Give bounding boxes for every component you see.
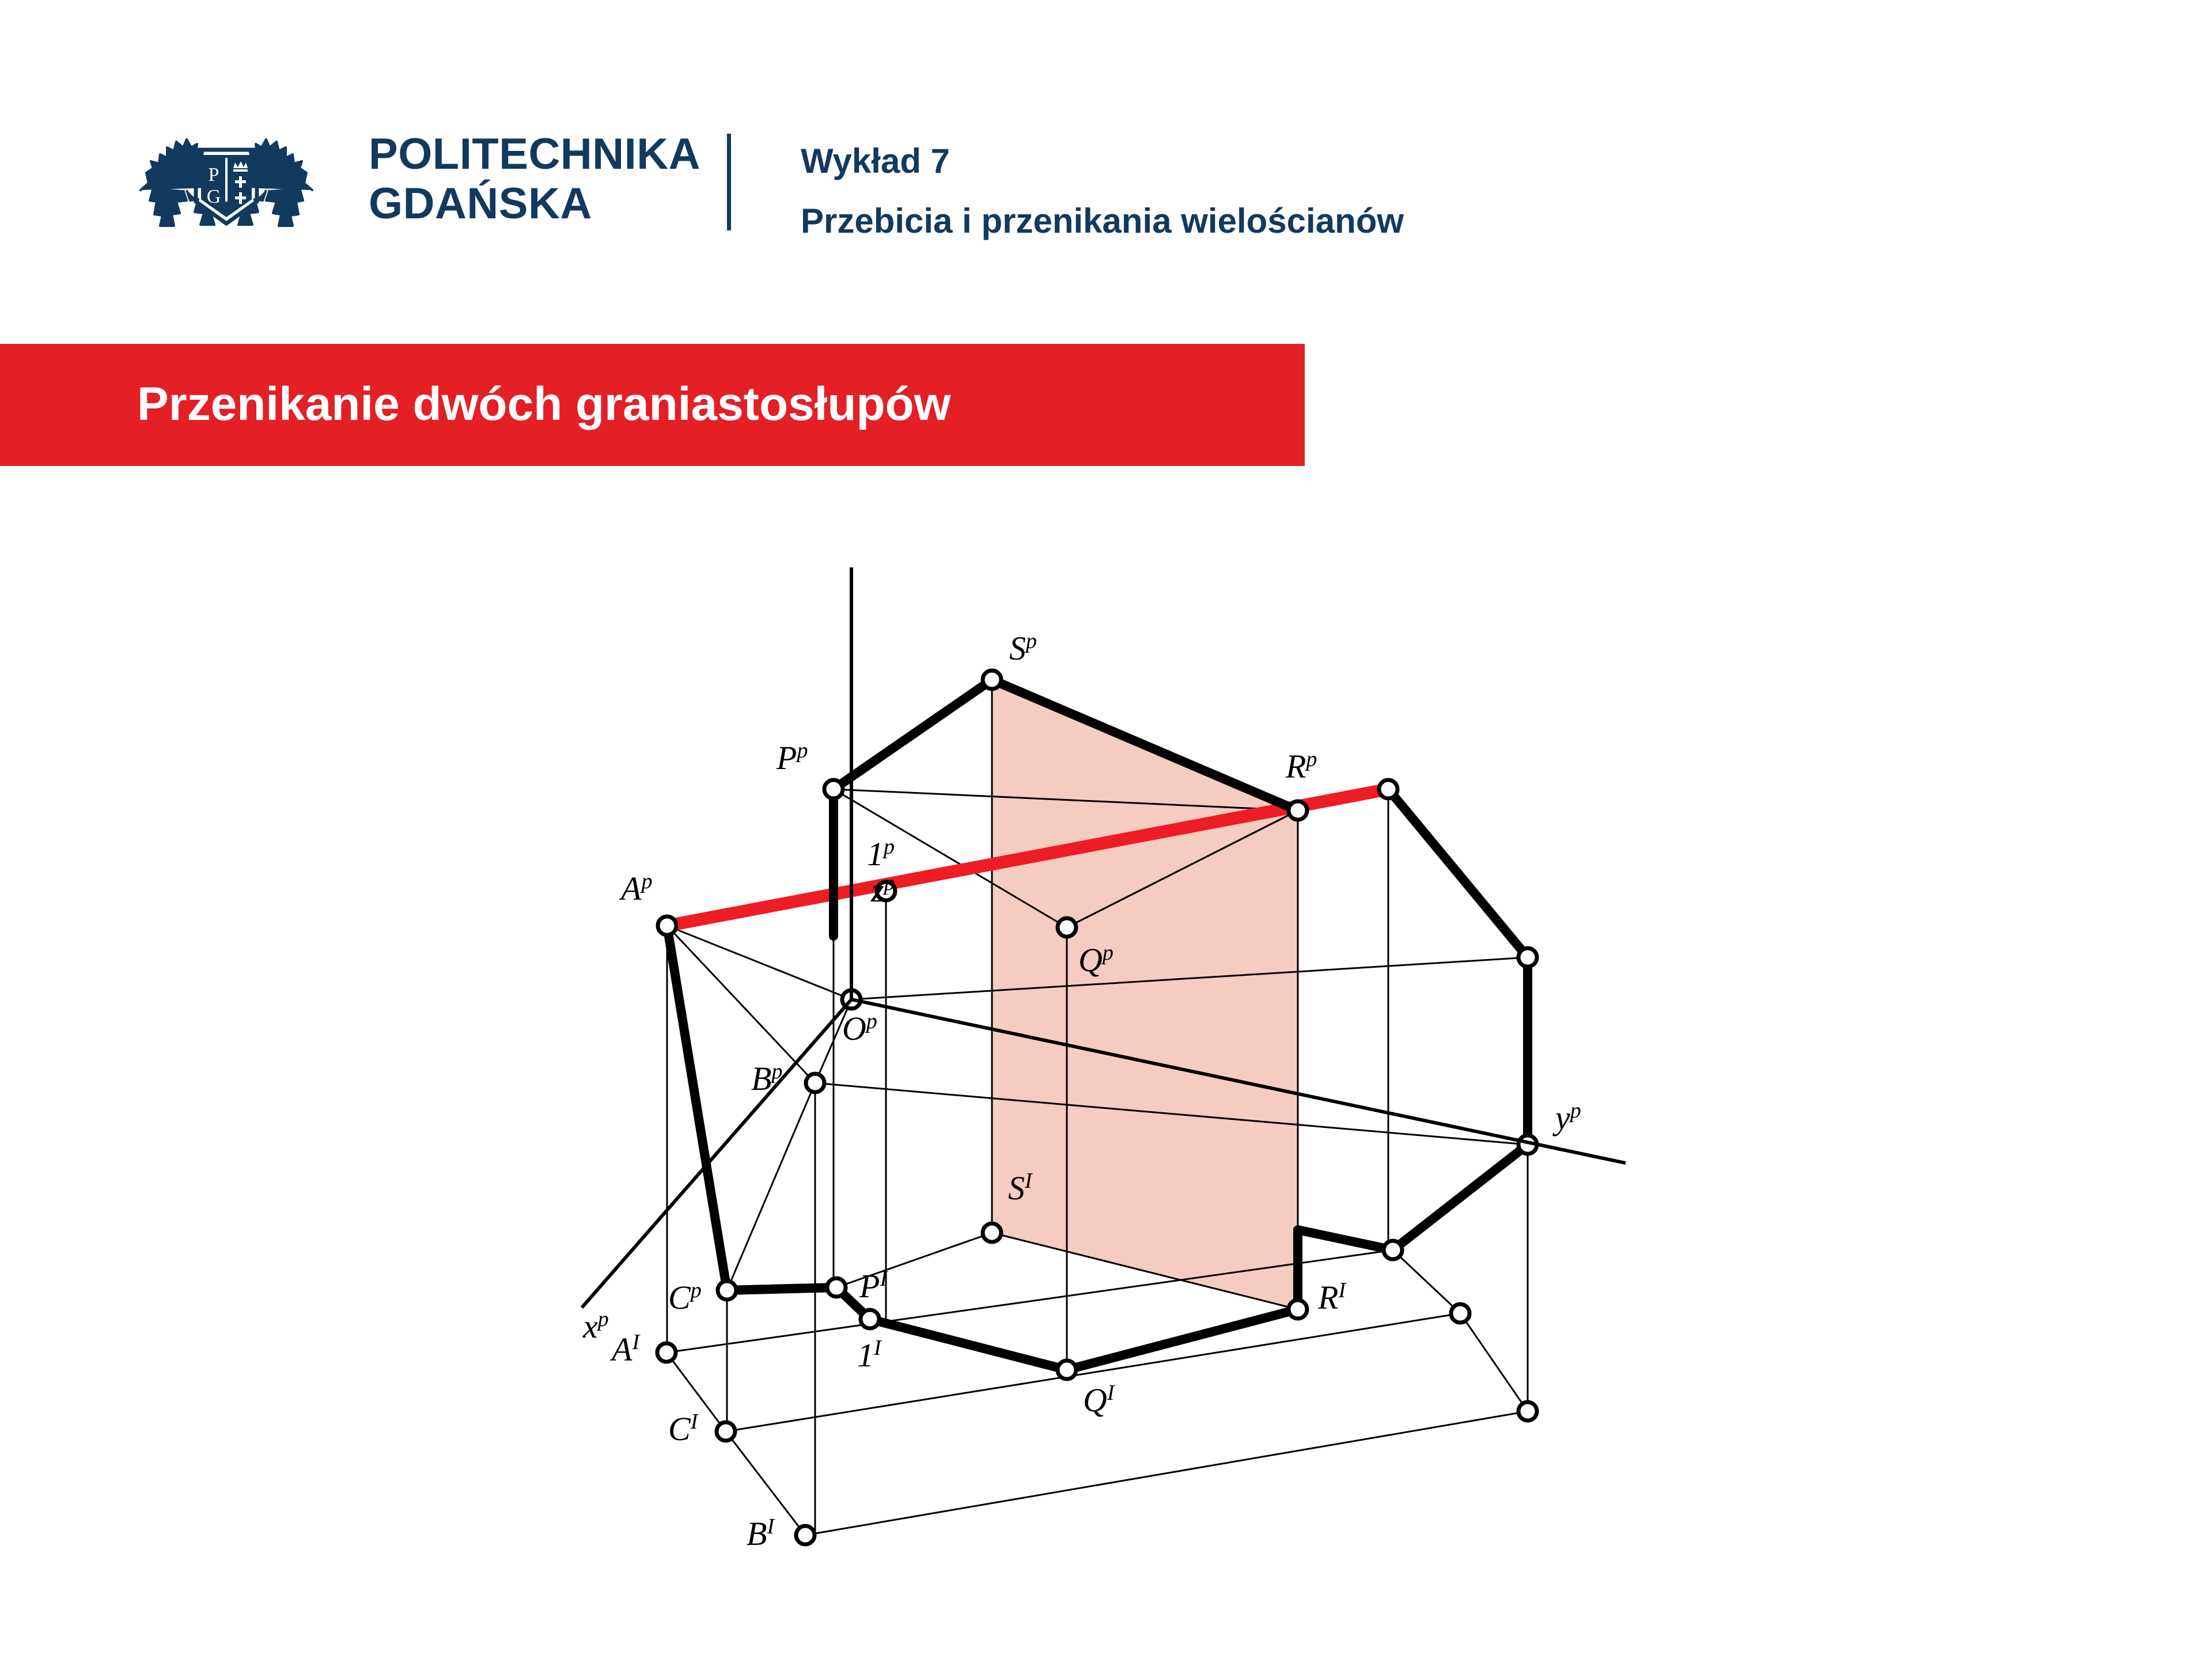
vertex-1-prime xyxy=(861,1310,879,1328)
vertex-P-p xyxy=(824,780,843,798)
label-R-p: Rp xyxy=(1285,747,1317,785)
label-A-prime: AI xyxy=(609,1330,641,1368)
label-B-p: Bp xyxy=(751,1059,782,1097)
label-P-p: Pp xyxy=(776,738,808,777)
lecture-number: Wykład 7 xyxy=(801,131,1404,191)
lecture-info: Wykład 7 Przebicia i przenikania wielośc… xyxy=(801,131,1404,251)
vertex-H-prime xyxy=(1518,1402,1537,1421)
label-C-prime: CI xyxy=(668,1410,699,1448)
vertex-G-prime xyxy=(1451,1304,1469,1323)
vertex-R-p xyxy=(1289,801,1307,820)
label-1-p: 1p xyxy=(867,835,895,873)
vertex-A-prime xyxy=(657,1343,676,1362)
label-Q-prime: QI xyxy=(1083,1381,1116,1419)
x-axis-line xyxy=(582,999,851,1308)
drawing-canvas: xp yp zp Sp Pp Rp 1p Ap Qp Op Bp Cp SI P… xyxy=(0,507,2212,1624)
page-title: Przenikanie dwóch graniastosłupów xyxy=(137,361,951,448)
shaded-cutting-plane xyxy=(992,680,1298,1309)
brand-wordmark: POLITECHNIKA GDAŃSKA xyxy=(369,130,700,229)
vertex-S-p xyxy=(983,671,1001,689)
pg-coat-of-arms-logo: P G xyxy=(134,128,319,237)
vertex-Q-p xyxy=(1058,918,1076,937)
label-P-prime: PI xyxy=(859,1267,888,1305)
vertex-F-prime xyxy=(1384,1241,1402,1259)
svg-text:G: G xyxy=(207,186,221,207)
label-A-p: Ap xyxy=(619,869,652,907)
vertex-S-prime xyxy=(983,1224,1001,1242)
vertex-E-p xyxy=(1518,948,1537,967)
svg-text:P: P xyxy=(209,164,219,185)
label-B-prime: BI xyxy=(747,1514,775,1552)
label-R-prime: RI xyxy=(1317,1278,1347,1316)
brand-line-politechnika: POLITECHNIKA xyxy=(369,130,700,179)
lecture-topic: Przebicia i przenikania wielościanów xyxy=(801,191,1404,251)
vertex-C-p xyxy=(718,1281,736,1300)
label-O-p: Op xyxy=(842,1009,877,1047)
label-1-prime: 1I xyxy=(857,1336,882,1374)
vertex-P-prime xyxy=(827,1278,846,1297)
vertex-R-prime xyxy=(1289,1300,1307,1319)
vertex-D-p xyxy=(1379,780,1397,798)
label-y-axis: yp xyxy=(1552,1099,1581,1137)
vertex-C-prime xyxy=(717,1422,735,1441)
vertex-A-p xyxy=(658,916,676,935)
slide-header: P G POLITECHNIKA GDAŃSKA Wykład 7 Przebi… xyxy=(0,0,2212,323)
label-z-axis: zp xyxy=(870,871,895,909)
label-S-p: Sp xyxy=(1009,629,1037,667)
vertex-B-prime xyxy=(796,1526,815,1544)
vertical-divider xyxy=(727,134,731,230)
section-title-banner: Przenikanie dwóch graniastosłupów xyxy=(0,344,1305,466)
vertex-B-p xyxy=(806,1074,824,1092)
axonometric-drawing: xp yp zp Sp Pp Rp 1p Ap Qp Op Bp Cp SI P… xyxy=(0,507,2212,1624)
brand-line-gdanska: GDAŃSKA xyxy=(369,179,700,229)
vertex-Q-prime xyxy=(1058,1361,1076,1379)
label-C-p: Cp xyxy=(668,1278,702,1316)
label-x-axis: xp xyxy=(582,1307,609,1345)
